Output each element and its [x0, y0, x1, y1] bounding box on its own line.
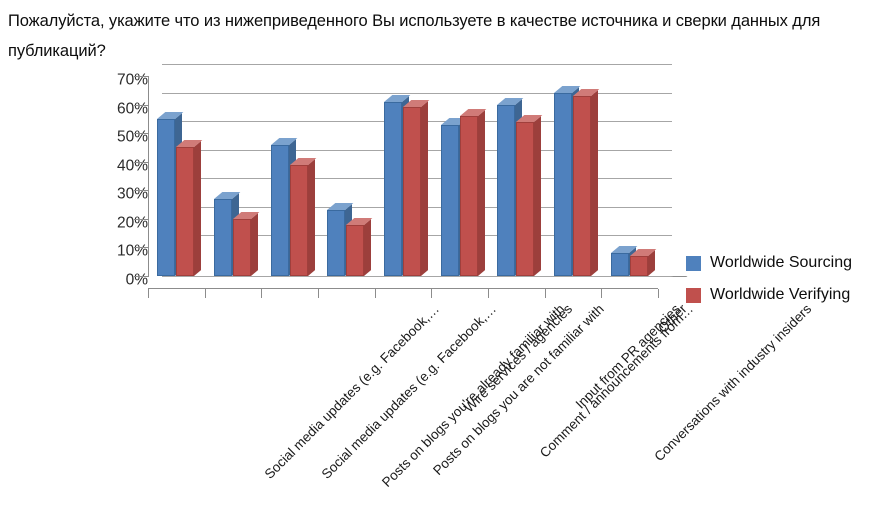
gridline-70: [162, 64, 672, 65]
chart-legend: Worldwide SourcingWorldwide Verifying: [686, 247, 882, 311]
legend-swatch-icon: [686, 288, 701, 303]
legend-label: Worldwide Verifying: [710, 286, 850, 304]
legend-item-verifying[interactable]: Worldwide Verifying: [686, 279, 882, 311]
legend-item-sourcing[interactable]: Worldwide Sourcing: [686, 247, 882, 279]
x-axis-category-label: Posts on blogs you are not familiar with: [431, 302, 607, 478]
page-title: Пожалуйста, укажите что из нижеприведенн…: [8, 6, 870, 66]
legend-label: Worldwide Sourcing: [710, 254, 852, 272]
chart-3d-clustered-column: 0%10%20%30%40%50%60%70% Social media upd…: [0, 66, 887, 505]
legend-swatch-icon: [686, 256, 701, 271]
